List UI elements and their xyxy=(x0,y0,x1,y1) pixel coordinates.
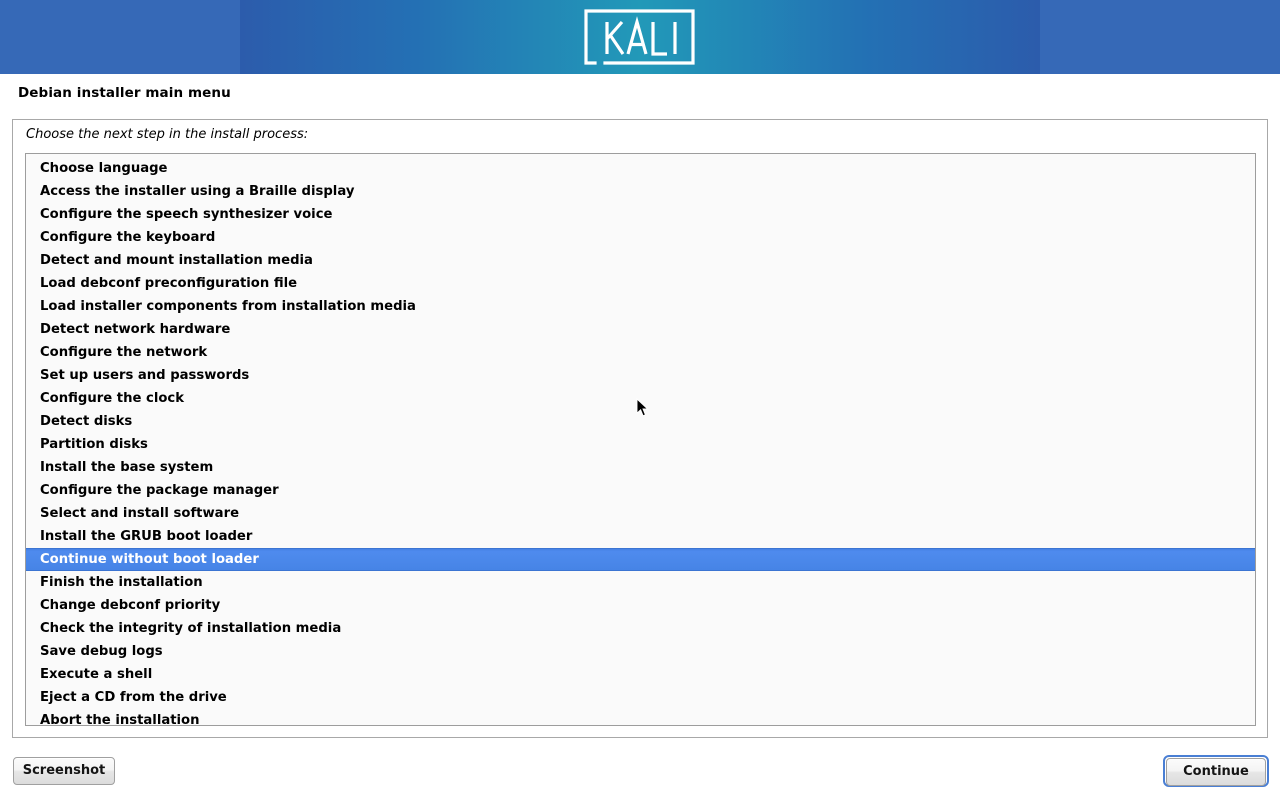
menu-prompt-label: Choose the next step in the install proc… xyxy=(26,127,308,142)
installer-window: Debian installer main menu Choose the ne… xyxy=(0,0,1280,800)
menu-item[interactable]: Load debconf preconfiguration file xyxy=(26,272,1255,295)
menu-item[interactable]: Save debug logs xyxy=(26,640,1255,663)
menu-item[interactable]: Partition disks xyxy=(26,433,1255,456)
kali-header-banner xyxy=(0,0,1280,74)
menu-item[interactable]: Detect and mount installation media xyxy=(26,249,1255,272)
menu-item[interactable]: Configure the clock xyxy=(26,387,1255,410)
menu-item[interactable]: Detect network hardware xyxy=(26,318,1255,341)
page-title: Debian installer main menu xyxy=(18,85,231,101)
menu-item[interactable]: Check the integrity of installation medi… xyxy=(26,617,1255,640)
menu-item[interactable]: Detect disks xyxy=(26,410,1255,433)
menu-item[interactable]: Access the installer using a Braille dis… xyxy=(26,180,1255,203)
menu-item[interactable]: Continue without boot loader xyxy=(26,548,1255,571)
menu-item[interactable]: Select and install software xyxy=(26,502,1255,525)
menu-item[interactable]: Configure the keyboard xyxy=(26,226,1255,249)
main-menu-listbox[interactable]: Choose languageAccess the installer usin… xyxy=(25,153,1256,726)
menu-item[interactable]: Install the base system xyxy=(26,456,1255,479)
screenshot-button[interactable]: Screenshot xyxy=(13,757,115,785)
menu-item[interactable]: Configure the package manager xyxy=(26,479,1255,502)
installer-main-panel: Choose the next step in the install proc… xyxy=(12,119,1268,738)
menu-item[interactable]: Execute a shell xyxy=(26,663,1255,686)
menu-item[interactable]: Configure the network xyxy=(26,341,1255,364)
menu-item[interactable]: Choose language xyxy=(26,157,1255,180)
menu-item[interactable]: Load installer components from installat… xyxy=(26,295,1255,318)
menu-item[interactable]: Set up users and passwords xyxy=(26,364,1255,387)
kali-linux-logo xyxy=(583,8,696,66)
menu-item[interactable]: Abort the installation xyxy=(26,709,1255,726)
menu-item[interactable]: Finish the installation xyxy=(26,571,1255,594)
menu-item[interactable]: Change debconf priority xyxy=(26,594,1255,617)
menu-item[interactable]: Eject a CD from the drive xyxy=(26,686,1255,709)
menu-item[interactable]: Install the GRUB boot loader xyxy=(26,525,1255,548)
main-menu-list: Choose languageAccess the installer usin… xyxy=(26,154,1255,726)
continue-button[interactable]: Continue xyxy=(1166,758,1266,786)
menu-item[interactable]: Configure the speech synthesizer voice xyxy=(26,203,1255,226)
